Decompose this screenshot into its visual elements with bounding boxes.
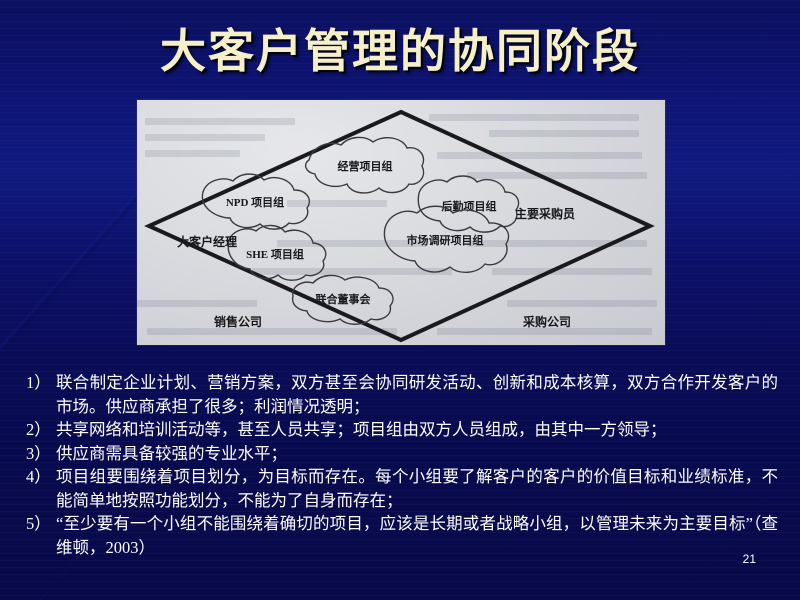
- blob-label-npd: NPD 项目组: [226, 195, 284, 209]
- list-item-marker: 5）: [26, 512, 56, 536]
- list-item-marker: 4）: [26, 465, 56, 489]
- list-item-marker: 1）: [26, 371, 56, 395]
- list-item: 2） 共享网络和培训活动等，甚至人员共享；项目组由双方人员组成，由其中一方领导；: [26, 418, 778, 442]
- list-item-text: 共享网络和培训活动等，甚至人员共享；项目组由双方人员组成，由其中一方领导；: [56, 418, 778, 442]
- list-item-text: “至少要有一个小组不能围绕着确切的项目，应该是长期或者战略小组，以管理未来为主要…: [56, 512, 778, 559]
- presentation-slide: 大客户管理的协同阶段 经营项目组 后勤项目组: [0, 0, 800, 600]
- page-number: 21: [743, 552, 756, 566]
- list-item-marker: 2）: [26, 418, 56, 442]
- corner-label-left: 大客户经理: [177, 234, 237, 249]
- list-item-marker: 3）: [26, 442, 56, 466]
- corner-label-right: 主要采购员: [515, 206, 575, 221]
- list-item: 5） “至少要有一个小组不能围绕着确切的项目，应该是长期或者战略小组，以管理未来…: [26, 512, 778, 559]
- body-bullet-list: 1） 联合制定企业计划、营销方案，双方甚至会协同研发活动、创新和成本核算，双方合…: [26, 371, 778, 559]
- blob-label-joint-board: 联合董事会: [316, 292, 372, 306]
- corner-label-bottom-left: 销售公司: [214, 314, 262, 329]
- corner-label-bottom-right: 采购公司: [522, 314, 571, 329]
- list-item-text: 供应商需具备较强的专业水平；: [56, 442, 778, 466]
- list-item: 1） 联合制定企业计划、营销方案，双方甚至会协同研发活动、创新和成本核算，双方合…: [26, 371, 778, 418]
- figure-image: 经营项目组 后勤项目组 NPD 项目组 SHE 项目组 市场调研项目组 联合董事…: [137, 100, 665, 345]
- list-item: 4） 项目组要围绕着项目划分，为目标而存在。每个小组要了解客户的客户的价值目标和…: [26, 465, 778, 512]
- diamond-outline: [149, 112, 650, 340]
- page-title: 大客户管理的协同阶段: [0, 28, 800, 77]
- list-item-text: 项目组要围绕着项目划分，为目标而存在。每个小组要了解客户的客户的价值目标和业绩标…: [56, 465, 778, 512]
- blob-label-operations: 经营项目组: [338, 159, 393, 173]
- blob-label-she: SHE 项目组: [246, 247, 304, 261]
- blob-label-market-research: 市场调研项目组: [407, 233, 484, 247]
- list-item: 3） 供应商需具备较强的专业水平；: [26, 442, 778, 466]
- list-item-text: 联合制定企业计划、营销方案，双方甚至会协同研发活动、创新和成本核算，双方合作开发…: [56, 371, 778, 418]
- diamond-diagram-svg: 经营项目组 后勤项目组 NPD 项目组 SHE 项目组 市场调研项目组 联合董事…: [137, 100, 665, 345]
